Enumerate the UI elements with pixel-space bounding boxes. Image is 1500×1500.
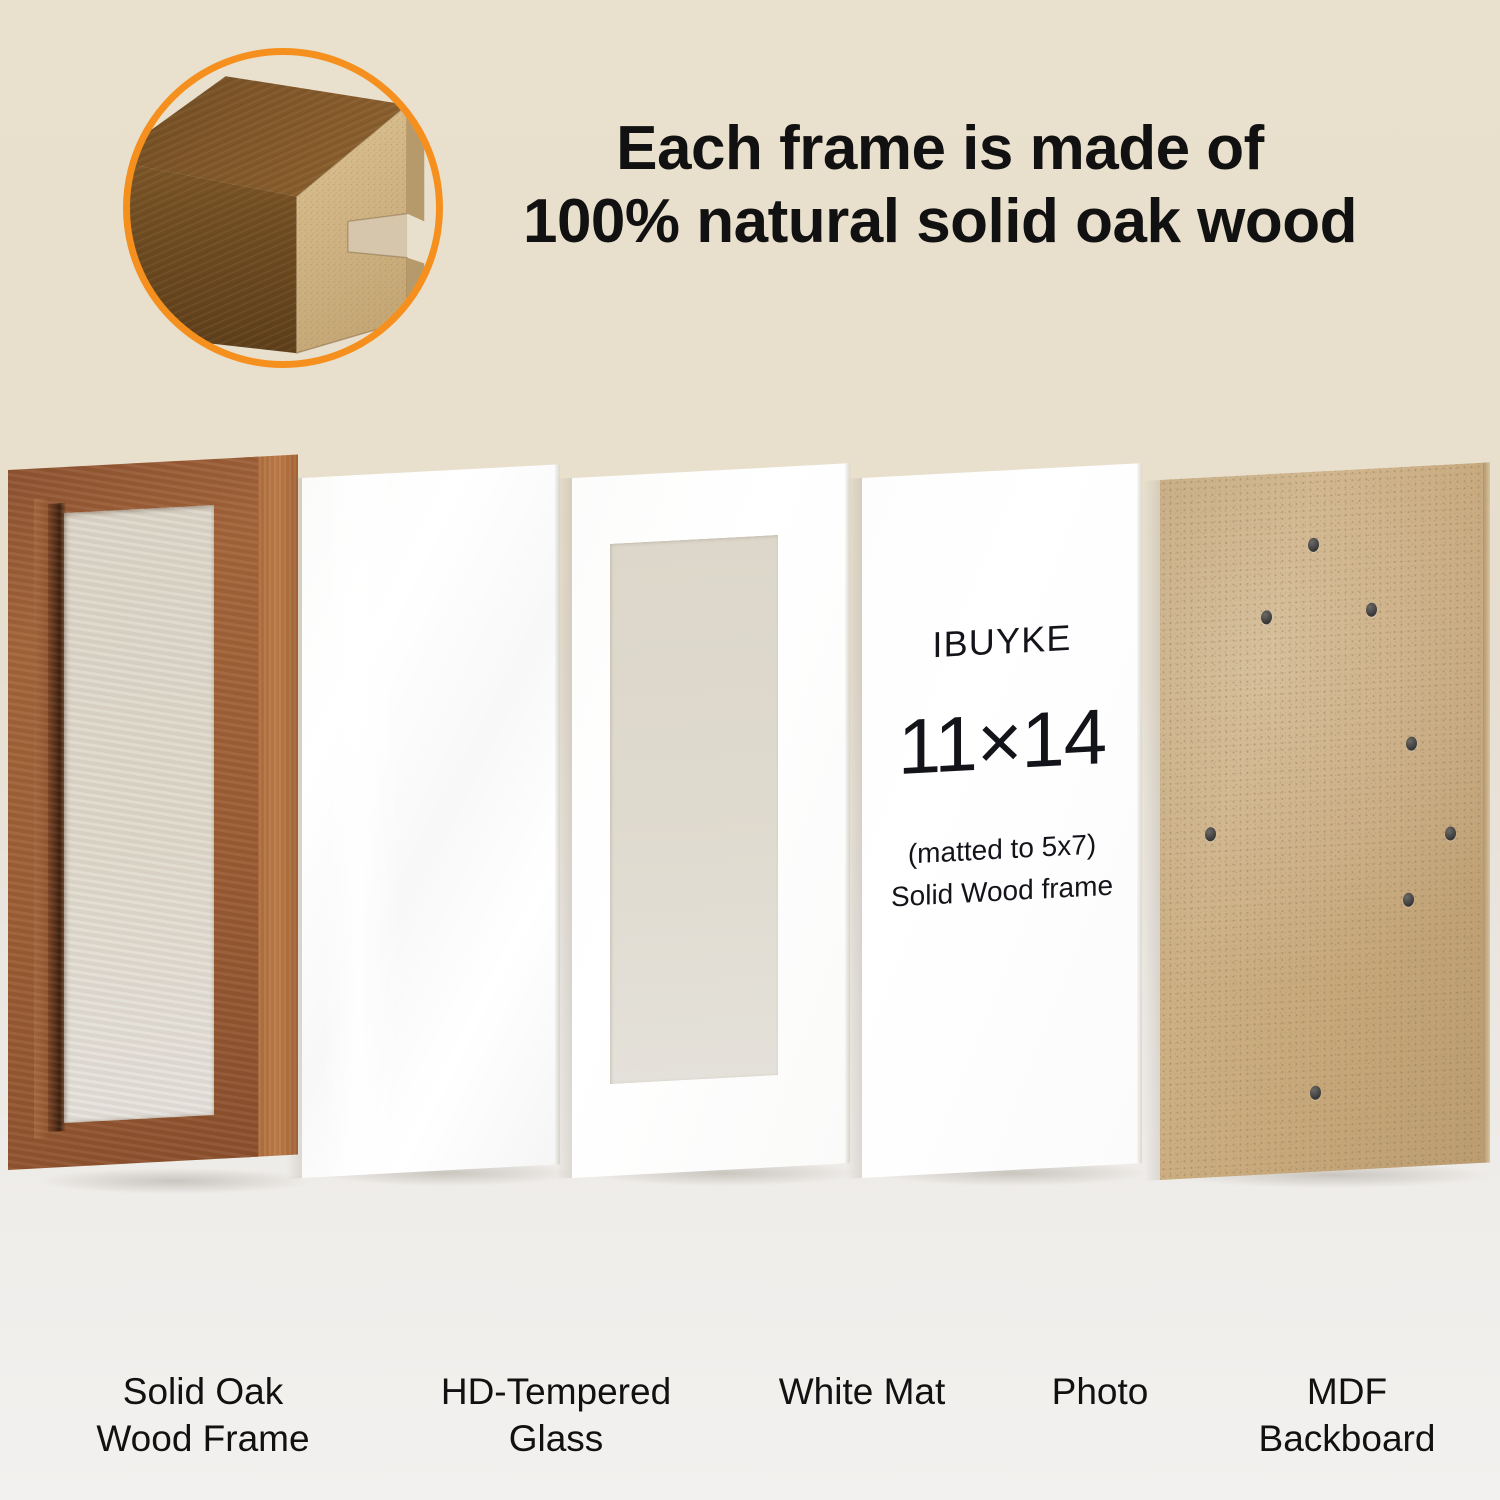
mat-window-opening xyxy=(610,535,778,1084)
mat-left-shadow xyxy=(556,478,572,1179)
frame-rabbet-groove xyxy=(48,503,66,1132)
caption-line-1: HD-Tempered xyxy=(441,1368,671,1415)
layer-solid-oak-wood-frame xyxy=(8,455,298,1170)
caption-line-2: Glass xyxy=(441,1415,671,1462)
layer-photo: IBUYKE 11×14 (matted to 5x7) Solid Wood … xyxy=(862,463,1142,1178)
badge-orange-ring xyxy=(123,48,443,368)
caption-white-mat: White Mat xyxy=(779,1368,946,1415)
caption-line-1: White Mat xyxy=(779,1368,946,1415)
photo-brand-name: IBUYKE xyxy=(932,617,1071,666)
layer-hd-tempered-glass xyxy=(302,464,560,1178)
caption-line-1: Photo xyxy=(1052,1368,1149,1415)
mdf-fiber-texture xyxy=(1160,462,1490,1180)
glass-left-shadow xyxy=(286,478,302,1179)
mdf-right-edge xyxy=(1483,462,1490,1162)
photo-left-shadow xyxy=(846,478,862,1179)
layer-white-mat xyxy=(572,463,850,1178)
photo-size-label: 11×14 xyxy=(898,691,1106,793)
frame-inner-rail xyxy=(34,498,50,1139)
frame-front-face xyxy=(8,457,258,1170)
caption-solid-oak-wood-frame: Solid Oak Wood Frame xyxy=(96,1368,309,1463)
mdf-left-shadow xyxy=(1144,480,1160,1181)
caption-hd-tempered-glass: HD-Tempered Glass xyxy=(441,1368,671,1463)
photo-right-edge xyxy=(1137,463,1142,1163)
glass-sheen xyxy=(323,473,400,1177)
caption-mdf-backboard: MDF Backboard xyxy=(1259,1368,1436,1463)
photo-subtitle: Solid Wood frame xyxy=(891,870,1113,914)
caption-line-1: Solid Oak xyxy=(96,1368,309,1415)
frame-floor-shadow xyxy=(40,1168,310,1194)
frame-opening xyxy=(64,505,214,1123)
caption-line-1: MDF xyxy=(1259,1368,1436,1415)
caption-photo: Photo xyxy=(1052,1368,1149,1415)
layer-mdf-backboard xyxy=(1160,462,1490,1180)
caption-line-2: Wood Frame xyxy=(96,1415,309,1462)
photo-matted-note: (matted to 5x7) xyxy=(908,829,1096,871)
caption-line-2: Backboard xyxy=(1259,1415,1436,1462)
photo-print-text: IBUYKE 11×14 (matted to 5x7) Solid Wood … xyxy=(862,463,1142,1178)
oak-wood-profile-badge xyxy=(123,48,443,368)
